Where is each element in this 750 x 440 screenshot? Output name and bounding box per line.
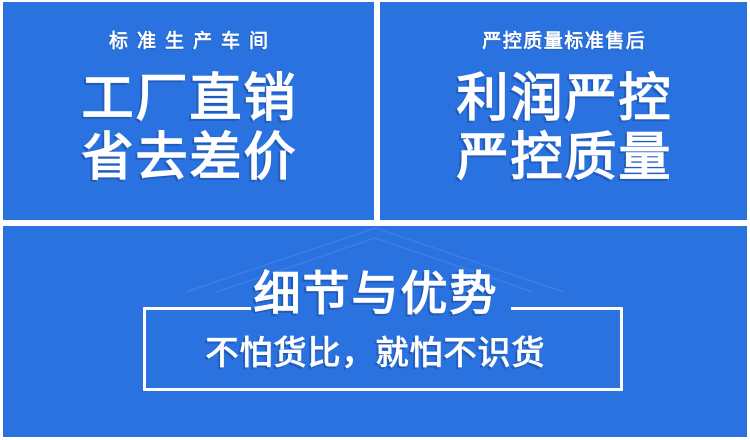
panel-quality-content: 严控质量标准售后 利润严控 严控质量	[380, 2, 747, 220]
details-subtitle: 不怕货比，就怕不识货	[3, 336, 747, 369]
factory-eyebrow-text: 标准生产车间	[100, 32, 277, 51]
details-title: 细节与优势	[3, 270, 747, 317]
factory-headline-line2: 省去差价	[79, 132, 297, 185]
quality-headline-line2: 严控质量	[454, 132, 672, 185]
quality-eyebrow-text: 严控质量标准售后	[481, 32, 647, 51]
panel-factory-content: 标准生产车间 工厂直销 省去差价	[3, 2, 374, 220]
panel-quality-control: 严控质量标准售后 利润严控 严控质量	[380, 2, 747, 220]
quality-headline-line1: 利润严控	[454, 73, 672, 126]
panel-factory-direct-sales: 标准生产车间 工厂直销 省去差价	[3, 2, 374, 220]
promo-banner: 标准生产车间 工厂直销 省去差价 严控质量标准售后 利润严控 严控质量 细节与优…	[0, 0, 750, 440]
panel-details-advantages: 细节与优势 不怕货比，就怕不识货	[3, 226, 747, 437]
factory-headline-line1: 工厂直销	[79, 73, 297, 126]
